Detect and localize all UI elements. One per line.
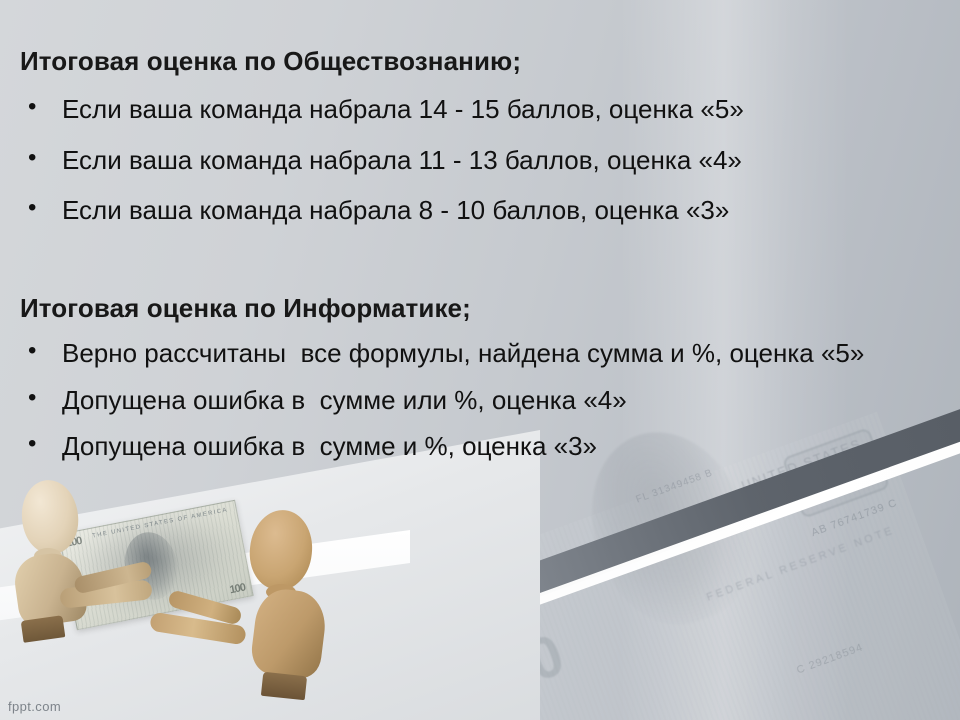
list-item: Верно рассчитаны все формулы, найдена су… xyxy=(20,336,864,371)
list-item: Если ваша команда набрала 14 - 15 баллов… xyxy=(20,92,744,127)
bullet-list-informatics: Верно рассчитаны все формулы, найдена су… xyxy=(20,336,864,476)
list-item: Допущена ошибка в сумме или %, оценка «4… xyxy=(20,383,864,418)
bullet-list-social-studies: Если ваша команда набрала 14 - 15 баллов… xyxy=(20,92,744,244)
watermark-fppt: fppt.com xyxy=(8,699,61,714)
slide-canvas: 100 UNITED STATES FEDERAL RESERVE NOTE A… xyxy=(0,0,960,720)
list-item: Допущена ошибка в сумме и %, оценка «3» xyxy=(20,429,864,464)
section-heading-informatics: Итоговая оценка по Информатике; xyxy=(20,293,471,324)
list-item: Если ваша команда набрала 11 - 13 баллов… xyxy=(20,143,744,178)
mannequin-base xyxy=(261,672,307,700)
held-banknote-denomination-bottom-right: 100 xyxy=(229,582,246,597)
section-heading-social-studies: Итоговая оценка по Обществознанию; xyxy=(20,46,521,77)
list-item: Если ваша команда набрала 8 - 10 баллов,… xyxy=(20,193,744,228)
